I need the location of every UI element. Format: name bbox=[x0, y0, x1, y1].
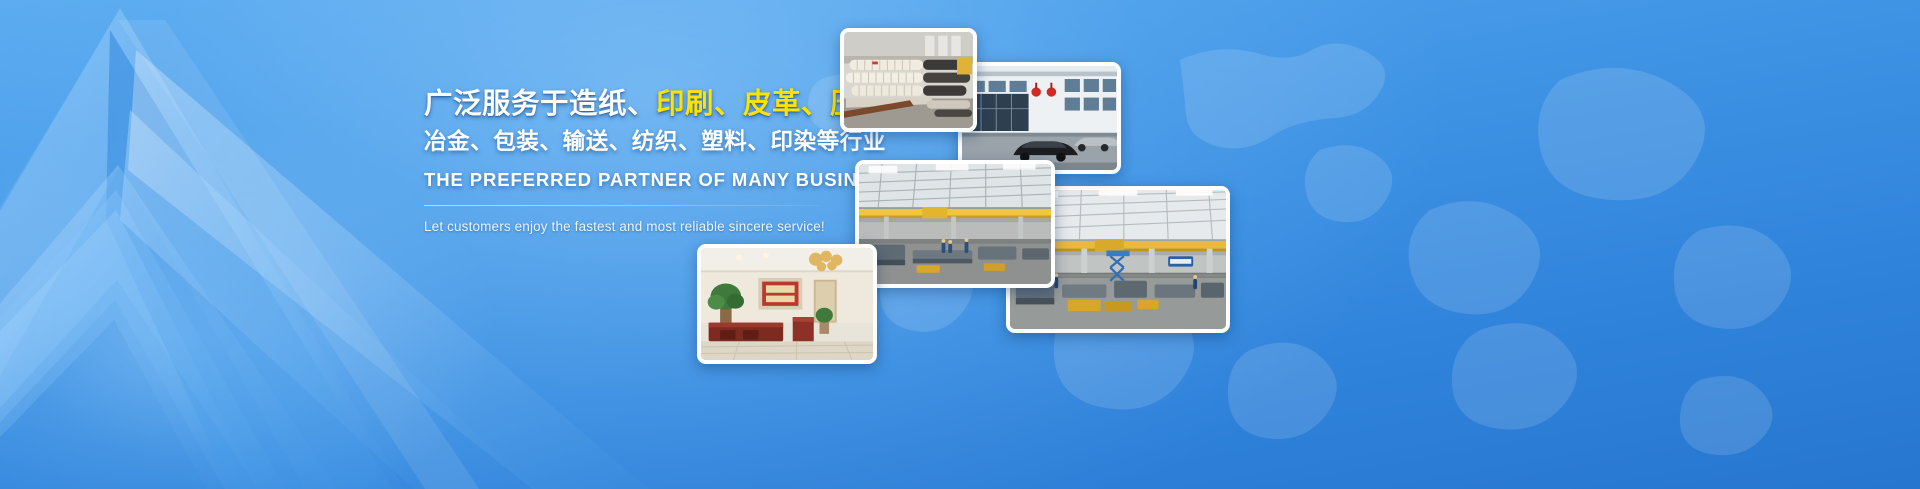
banner-copy: 广泛服务于造纸、印刷、皮革、压延、 冶金、包装、输送、纺织、塑料、印染等行业 T… bbox=[424, 84, 854, 234]
headline-line-1: 广泛服务于造纸、印刷、皮革、压延、 bbox=[424, 84, 854, 124]
collage-photo-office-lobby[interactable] bbox=[697, 244, 877, 364]
copy-divider bbox=[424, 205, 820, 206]
collage-photo-rollers[interactable] bbox=[840, 28, 977, 132]
collage-photo-factory-exterior[interactable] bbox=[958, 62, 1121, 174]
collage-photo-workshop-interior[interactable] bbox=[855, 160, 1055, 288]
subheadline: THE PREFERRED PARTNER OF MANY BUSINESS E… bbox=[424, 169, 854, 191]
tagline: Let customers enjoy the fastest and most… bbox=[424, 219, 854, 234]
headline-white-part: 广泛服务于造纸、 bbox=[424, 88, 656, 120]
chevron-ribbon-graphic bbox=[0, 0, 740, 489]
photo-collage bbox=[0, 0, 1920, 489]
hero-banner: 广泛服务于造纸、印刷、皮革、压延、 冶金、包装、输送、纺织、塑料、印染等行业 T… bbox=[0, 0, 1920, 489]
headline-line-2: 冶金、包装、输送、纺织、塑料、印染等行业 bbox=[424, 124, 854, 160]
